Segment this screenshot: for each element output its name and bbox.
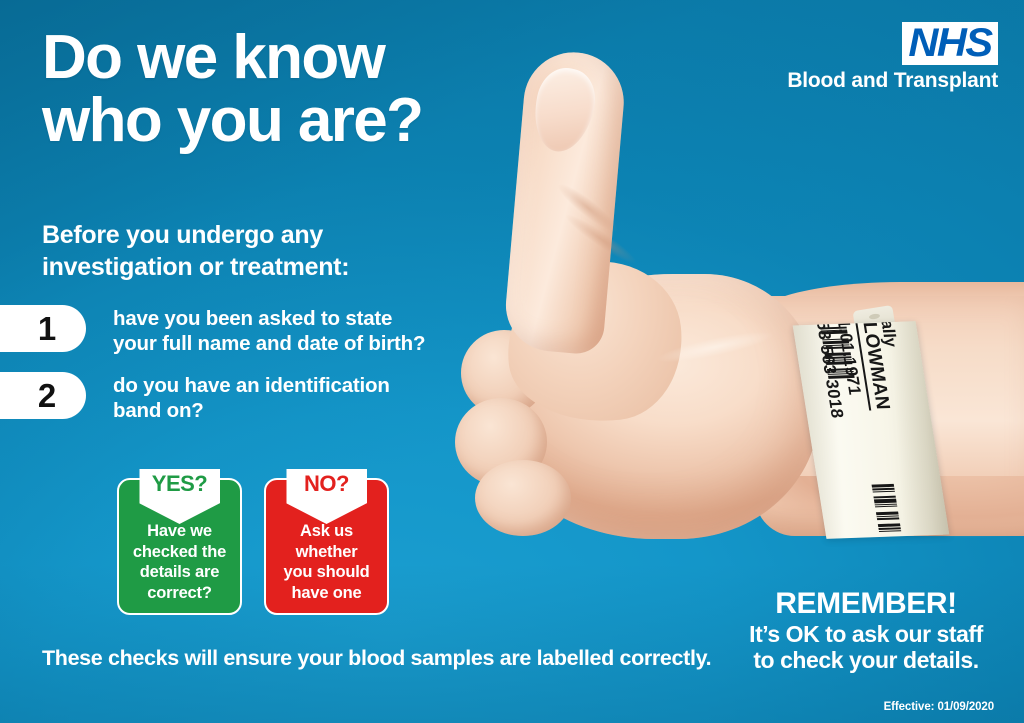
checklist: 1 have you been asked to state your full…	[0, 305, 470, 439]
nhs-logo-badge: NHS	[902, 22, 998, 65]
list-item: 1 have you been asked to state your full…	[0, 305, 470, 356]
intro-text: Before you undergo any investigation or …	[42, 219, 349, 283]
thumbs-up-hand-photo: Sally PLOWMAN 11.01.1971 153 563 3018	[455, 46, 1024, 606]
remember-body: It’s OK to ask our staff to check your d…	[736, 621, 996, 674]
step-text: do you have an identification band on?	[113, 373, 390, 423]
step-number-badge: 2	[0, 372, 86, 419]
remember-block: REMEMBER! It’s OK to ask our staff to ch…	[736, 588, 996, 674]
no-flag-label: NO?	[304, 473, 349, 524]
yes-answer-card: YES? Have we checked the details are cor…	[117, 478, 242, 615]
bottom-caption: These checks will ensure your blood samp…	[42, 646, 711, 671]
knuckle-icon	[475, 460, 571, 536]
yes-card-body: Have we checked the details are correct?	[133, 521, 226, 604]
nhs-logo-subtitle: Blood and Transplant	[787, 69, 998, 93]
effective-date: Effective: 01/09/2020	[884, 701, 994, 713]
nhs-logo: NHS Blood and Transplant	[787, 22, 998, 93]
remember-title: REMEMBER!	[736, 588, 996, 620]
nhs-logo-text: NHS	[908, 24, 991, 62]
no-card-body: Ask us whether you should have one	[284, 521, 370, 604]
no-answer-card: NO? Ask us whether you should have one	[264, 478, 389, 615]
page-title: Do we know who you are?	[42, 26, 422, 152]
yes-flag-label: YES?	[152, 473, 207, 524]
nhs-identity-poster: Sally PLOWMAN 11.01.1971 153 563 3018 NH…	[0, 0, 1024, 723]
step-text: have you been asked to state your full n…	[113, 306, 425, 356]
step-number-badge: 1	[0, 305, 86, 352]
answer-cards: YES? Have we checked the details are cor…	[117, 478, 389, 615]
yes-flag-banner: YES?	[139, 469, 220, 524]
list-item: 2 do you have an identification band on?	[0, 372, 470, 423]
no-flag-banner: NO?	[286, 469, 367, 524]
